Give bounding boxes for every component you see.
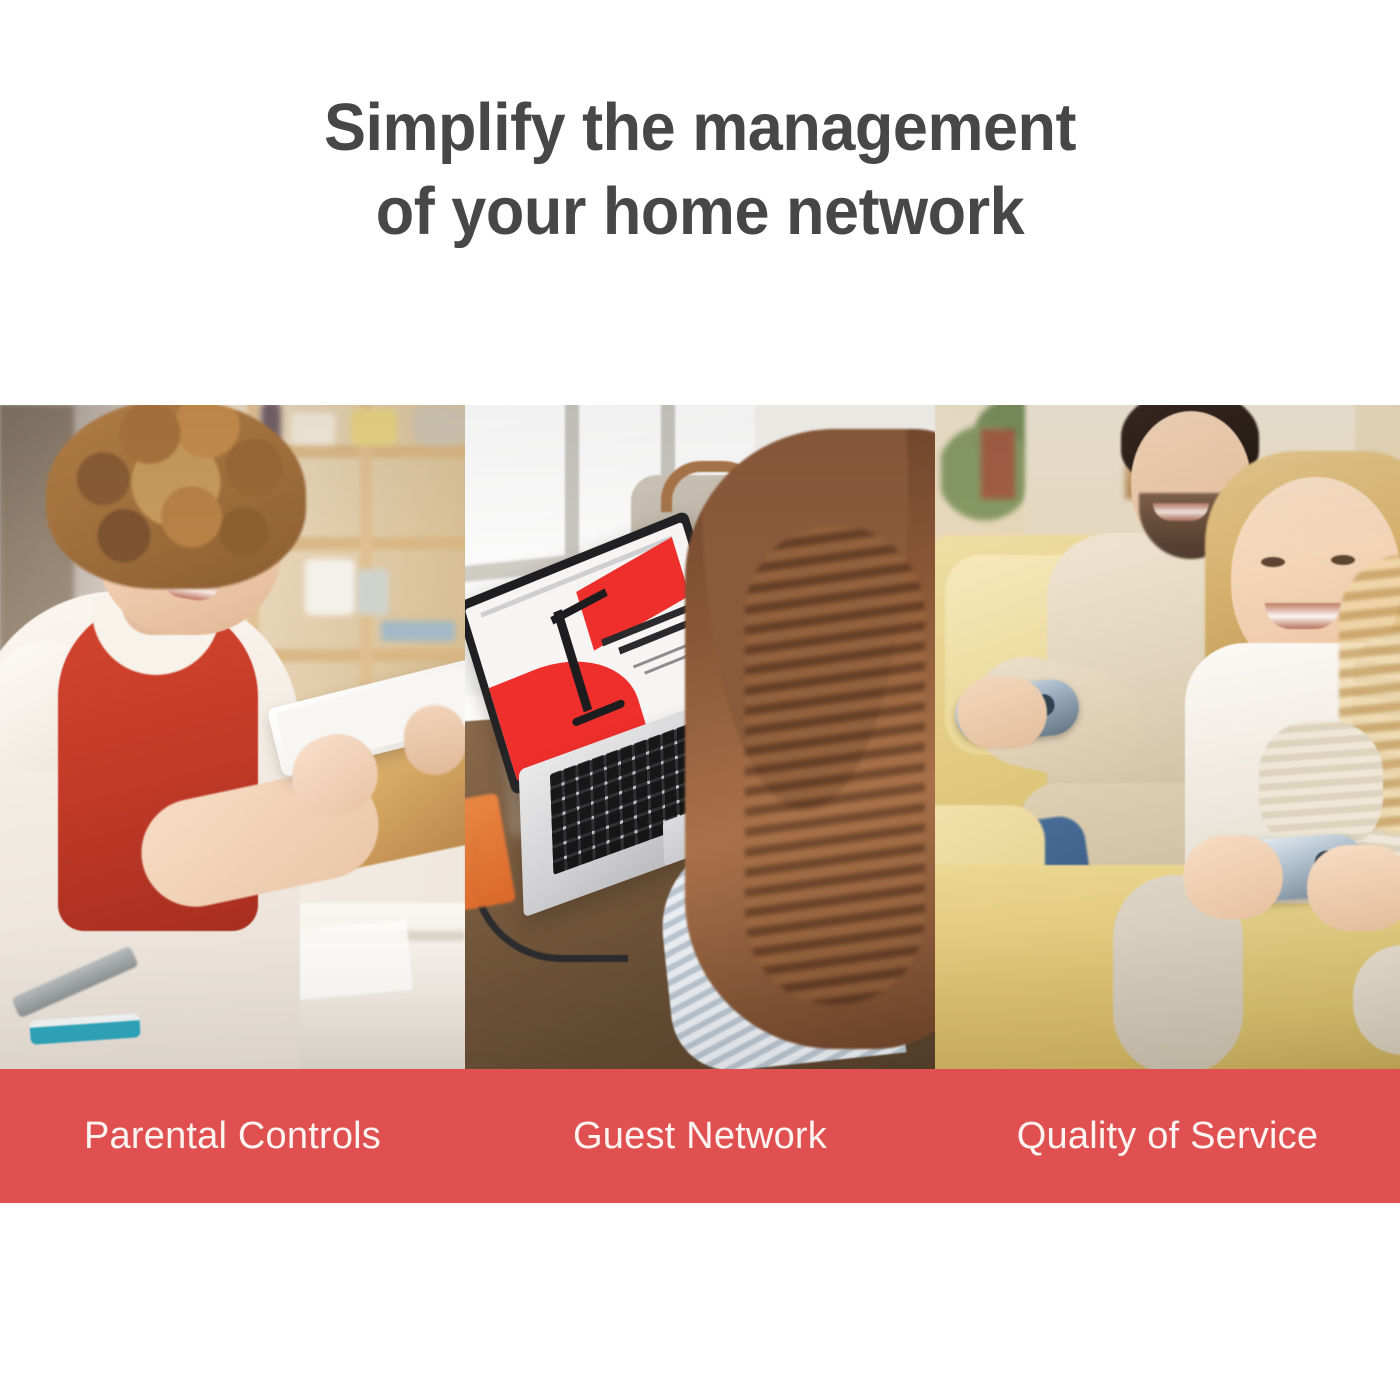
man-hand [957,677,1047,749]
woman-eye [1331,555,1355,565]
caption-guest-network: Guest Network [465,1115,935,1158]
caption-parental-controls: Parental Controls [0,1115,465,1158]
woman-eye [1261,557,1285,567]
caption-quality-of-service: Quality of Service [935,1115,1400,1158]
shelf-object [413,405,465,445]
feature-photo-parental-controls [0,405,465,1069]
woman-hair-strands [745,525,925,1005]
feature-photo-strip [0,405,1400,1069]
child-curly-hair [46,405,306,589]
feature-caption-bar: Parental Controls Guest Network Quality … [0,1069,1400,1203]
shelf-object [357,569,389,615]
page-title: Simplify the management of your home net… [42,86,1358,254]
woman-sleeve [1259,721,1383,851]
feature-photo-quality-of-service [935,405,1400,1069]
shelf-object [381,621,455,641]
shelf-object [291,413,335,445]
shelf-object [351,409,397,445]
background-object [981,429,1015,499]
child-hand [404,705,465,775]
woman-hand [1183,835,1283,919]
page-title-line-1: Simplify the management [42,86,1358,170]
shelf-object [305,559,355,615]
feature-photo-guest-network [465,405,935,1069]
page-title-line-2: of your home network [42,170,1358,254]
woman-hand [1307,845,1400,931]
